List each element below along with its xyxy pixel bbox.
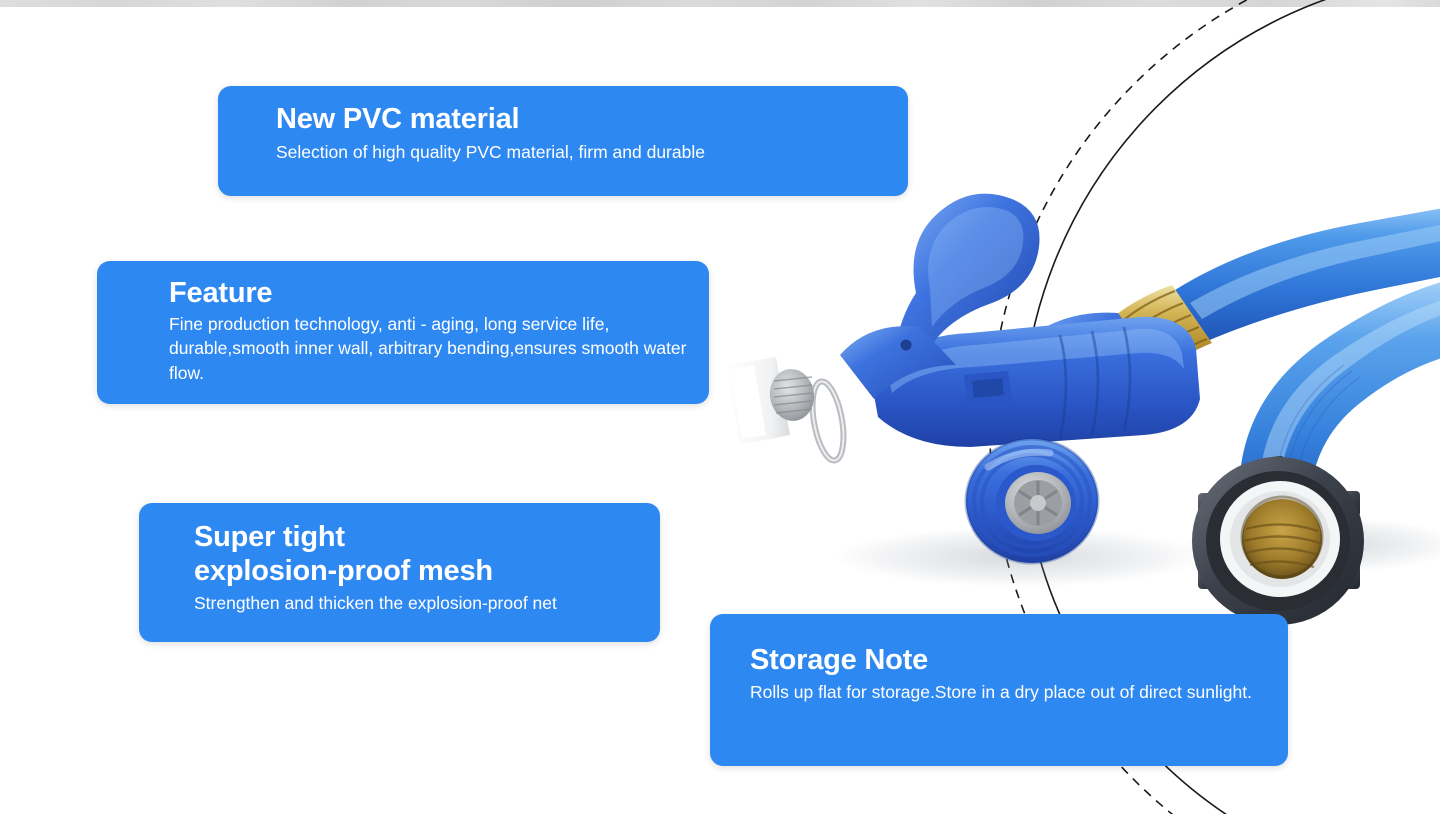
metal-clip-ring — [807, 379, 848, 463]
hose-collar-blue — [1020, 313, 1164, 419]
pivot-hole — [901, 340, 912, 351]
trigger-bridge — [840, 326, 956, 399]
gray-nozzle-tip — [1005, 472, 1071, 534]
brass-threaded-fitting-upper — [1112, 285, 1212, 375]
card-title-super-tight-explosion-proof-mesh: Super tight explosion-proof mesh — [194, 520, 640, 588]
blue-pvc-hose-lower — [1239, 277, 1440, 525]
black-coupling-nut — [1192, 455, 1364, 625]
feature-card-super-tight-explosion-proof-mesh: Super tight explosion-proof mesh Strengt… — [139, 503, 660, 642]
grip-ribs — [1060, 327, 1130, 439]
feature-card-feature: Feature Fine production technology, anti… — [97, 261, 709, 404]
card-body-storage-note: Rolls up flat for storage.Store in a dry… — [750, 680, 1268, 704]
gray-knurled-collar — [767, 366, 818, 424]
white-end-cap — [726, 357, 790, 445]
feature-card-new-pvc-material: New PVC material Selection of high quali… — [218, 86, 908, 196]
white-washer — [1220, 481, 1340, 597]
product-feature-infographic: New PVC material Selection of high quali… — [0, 0, 1440, 814]
connector-shadow — [1180, 517, 1440, 573]
card-body-feature: Fine production technology, anti - aging… — [169, 312, 689, 384]
spray-gun-barrel — [870, 317, 1200, 447]
blue-pvc-hose-upper — [1175, 205, 1440, 345]
card-title-storage-note: Storage Note — [750, 645, 1268, 676]
product-shadow — [835, 527, 1205, 587]
feature-card-storage-note: Storage Note Rolls up flat for storage.S… — [710, 614, 1288, 766]
top-gray-strip — [0, 0, 1440, 7]
brass-ring-lower — [1242, 483, 1320, 511]
product-photo — [720, 185, 1440, 625]
nozzle-head — [966, 439, 1098, 563]
card-title-feature: Feature — [169, 278, 689, 309]
spray-gun-trigger — [898, 194, 1040, 351]
card-body-super-tight-explosion-proof-mesh: Strengthen and thicken the explosion-pro… — [194, 591, 640, 615]
card-body-new-pvc-material: Selection of high quality PVC material, … — [276, 140, 884, 164]
brass-bore — [1242, 499, 1322, 579]
card-title-new-pvc-material: New PVC material — [276, 104, 884, 135]
